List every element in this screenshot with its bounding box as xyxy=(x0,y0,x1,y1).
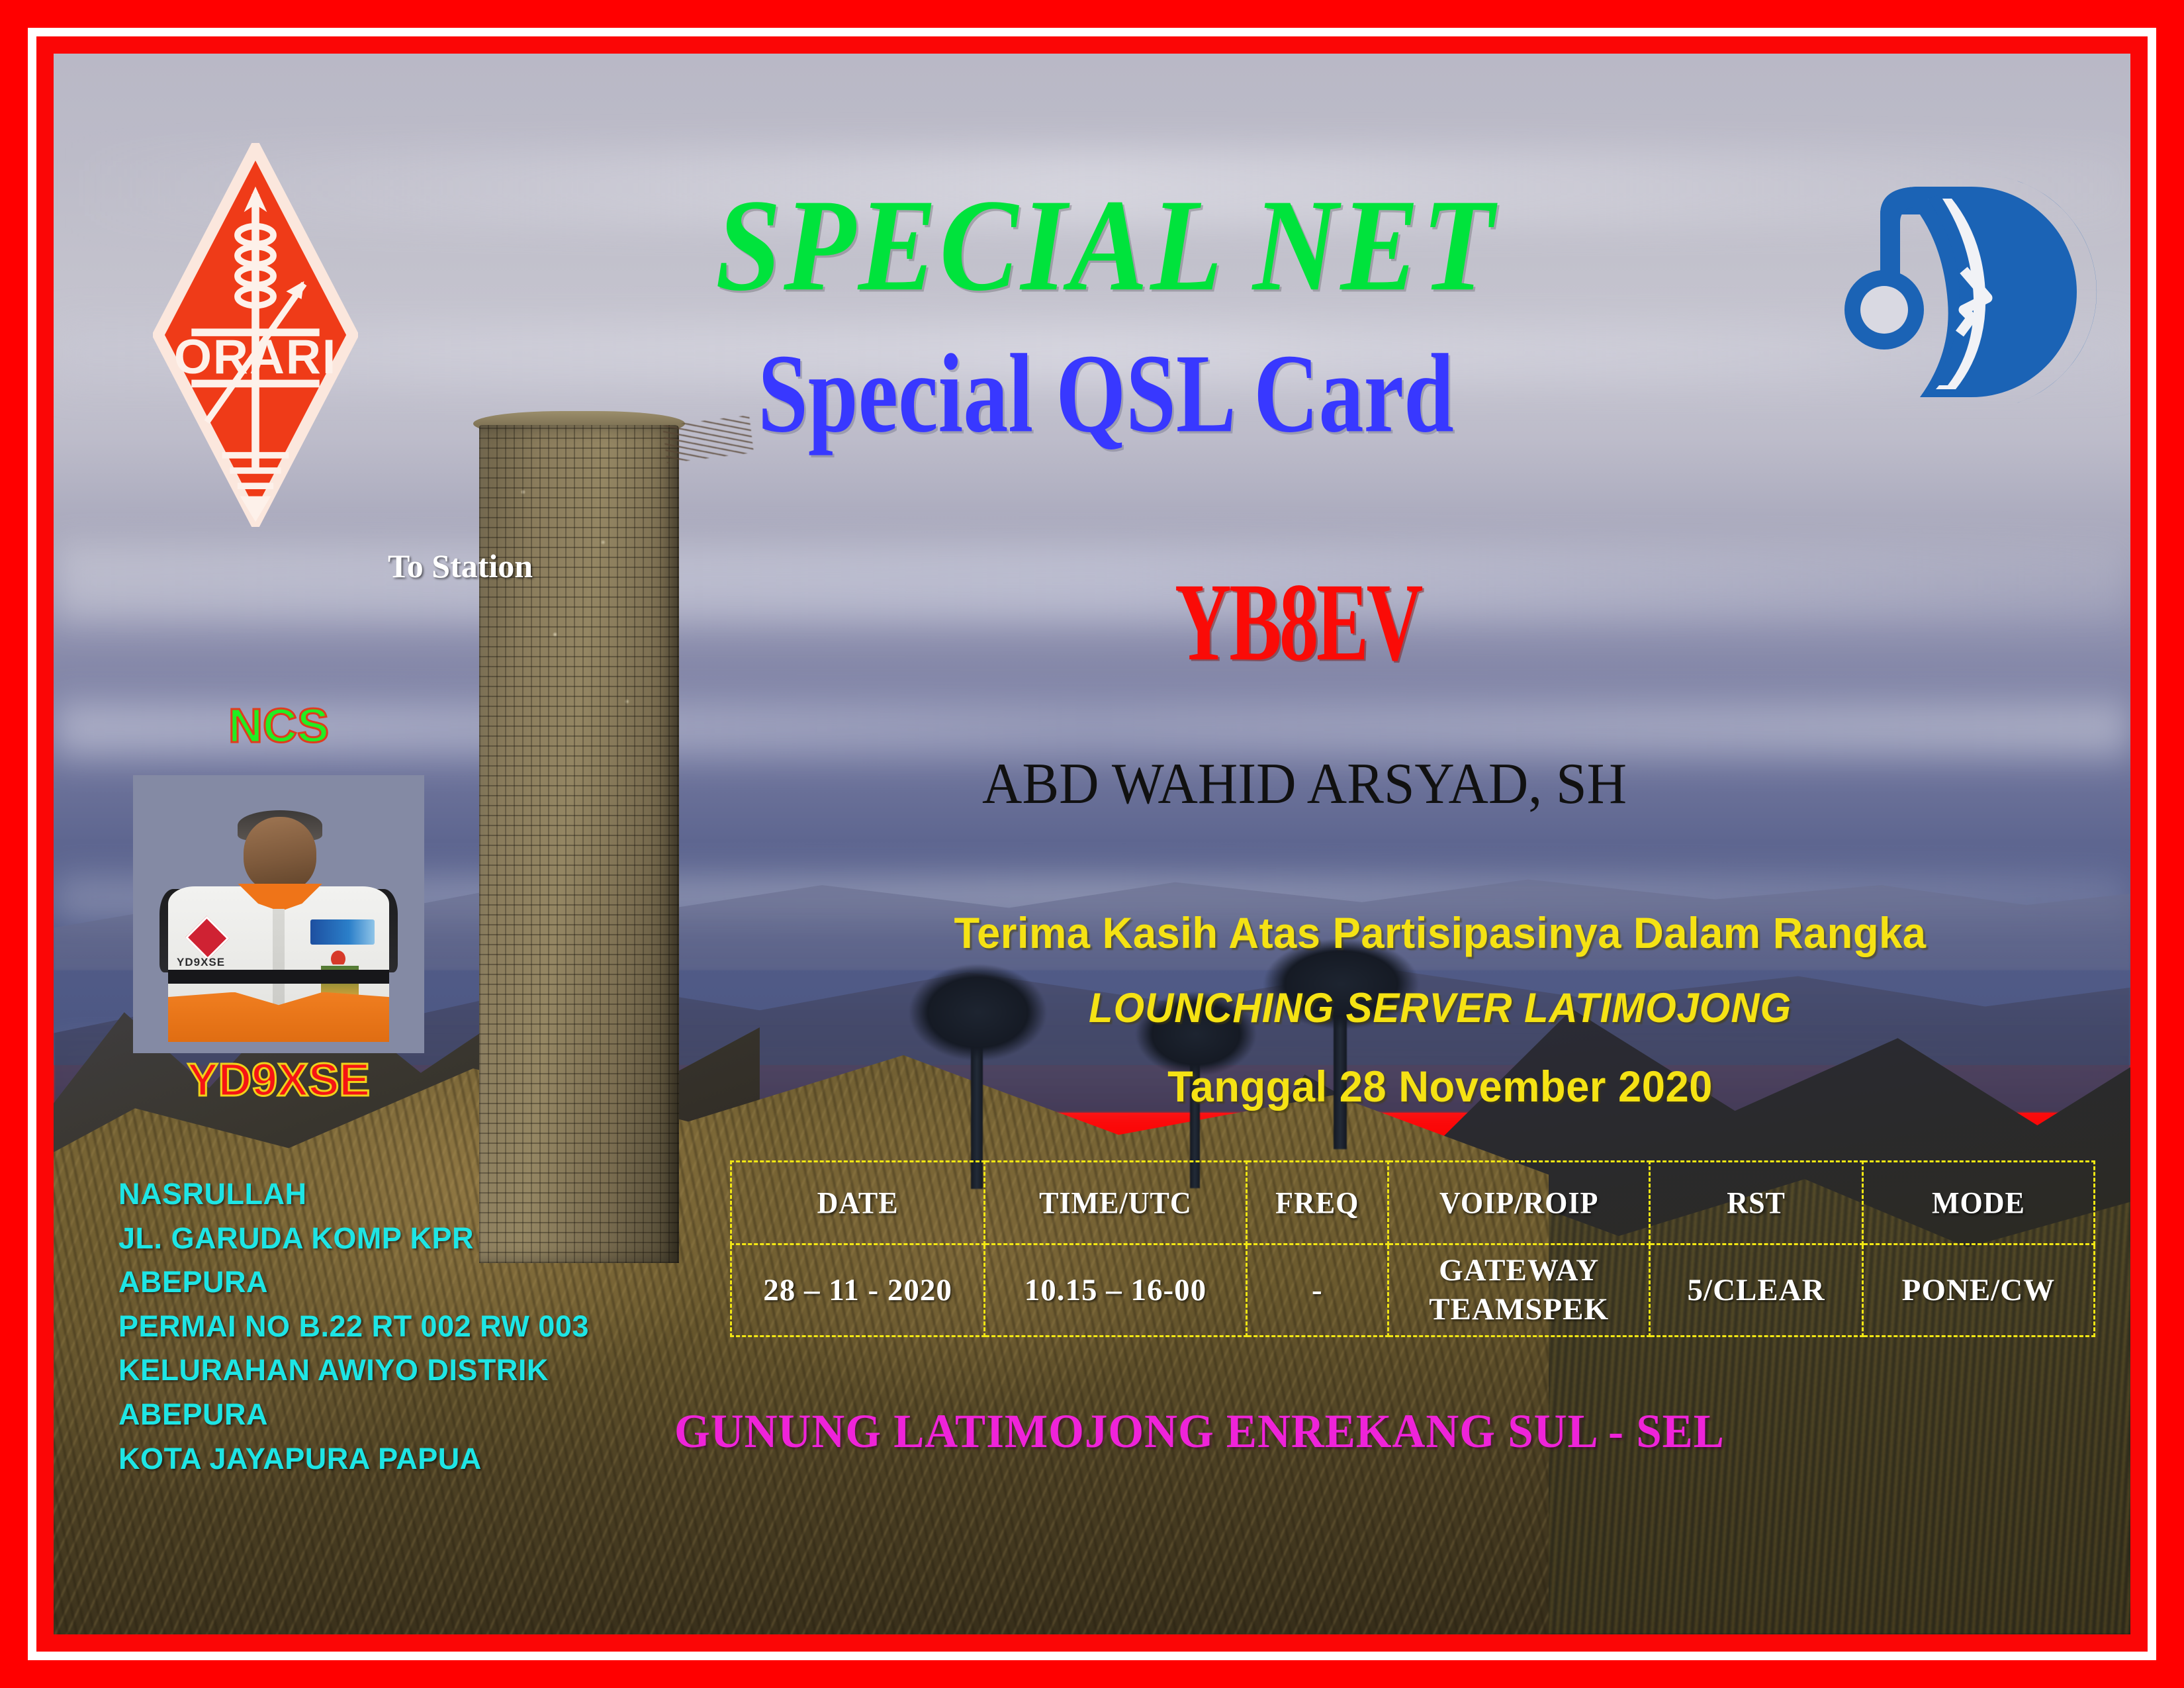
cell-voip: GATEWAY TEAMSPEK xyxy=(1388,1244,1650,1336)
ncs-operator-photo: YD9XSE xyxy=(133,775,424,1053)
qsl-card: ORARI SPECIAL NET Special QSL Card To St… xyxy=(0,0,2184,1688)
cell-voip-line-1: GATEWAY xyxy=(1389,1251,1649,1290)
cell-mode: PONE/CW xyxy=(1862,1244,2094,1336)
shirt-callsign-text: YD9XSE xyxy=(177,956,264,969)
shirt-stripe xyxy=(168,970,389,984)
message-line-1: Terima Kasih Atas Partisipasinya Dalam R… xyxy=(808,908,2072,958)
face xyxy=(244,817,316,892)
table-header-row: DATE TIME/UTC FREQ VOIP/ROIP RST MODE xyxy=(731,1162,2095,1244)
footer-web-address: Address : amatir.latimojong.com xyxy=(1357,1628,1971,1634)
card-white-gap: ORARI SPECIAL NET Special QSL Card To St… xyxy=(28,28,2156,1660)
message-line-2: LOUNCHING SERVER LATIMOJONG xyxy=(815,984,2066,1032)
station-callsign: YB8EV xyxy=(854,567,1742,678)
operator-name: ABD WAHID ARSYAD, SH xyxy=(796,755,1814,814)
address-line: JL. GARUDA KOMP KPR xyxy=(118,1217,701,1261)
location-label: GUNUNG LATIMOJONG ENREKANG SUL - SEL xyxy=(674,1404,1882,1459)
thank-you-message: Terima Kasih Atas Partisipasinya Dalam R… xyxy=(782,908,2099,1111)
card-inner-border: ORARI SPECIAL NET Special QSL Card To St… xyxy=(36,36,2148,1652)
footer-motto: "AMATIR RADIO ADALAH PROGRESIVE" xyxy=(171,1628,1036,1634)
ncs-callsign: YD9XSE xyxy=(123,1053,434,1106)
table-row: 28 – 11 - 2020 10.15 – 16-00 - GATEWAY T… xyxy=(731,1244,2095,1336)
club-shirt-badge xyxy=(310,919,375,945)
qso-log-table: DATE TIME/UTC FREQ VOIP/ROIP RST MODE 28… xyxy=(730,1160,2095,1337)
cell-date: 28 – 11 - 2020 xyxy=(731,1244,985,1336)
column-header-freq: FREQ xyxy=(1246,1159,1388,1246)
to-station-label: To Station xyxy=(388,547,533,585)
card-photo-area: ORARI SPECIAL NET Special QSL Card To St… xyxy=(54,54,2130,1634)
column-header-time: TIME/UTC xyxy=(985,1159,1247,1246)
column-header-rst: RST xyxy=(1650,1159,1862,1246)
ncs-label: NCS xyxy=(169,699,388,753)
address-line: ABEPURA xyxy=(118,1393,701,1437)
address-line: KOTA JAYAPURA PAPUA xyxy=(118,1437,701,1481)
address-line: KELURAHAN AWIYO DISTRIK xyxy=(118,1348,701,1393)
orari-logo: ORARI xyxy=(153,143,358,527)
column-header-voip: VOIP/ROIP xyxy=(1388,1159,1650,1246)
column-header-date: DATE xyxy=(731,1159,985,1246)
message-line-3: Tanggal 28 November 2020 xyxy=(808,1061,2072,1111)
address-line: NASRULLAH xyxy=(118,1172,701,1217)
cell-rst: 5/CLEAR xyxy=(1650,1244,1862,1336)
address-line: ABEPURA xyxy=(118,1260,701,1305)
page-title: SPECIAL NET xyxy=(477,179,1735,310)
rapi-headphone-head-logo xyxy=(1841,160,2099,424)
cell-time: 10.15 – 16-00 xyxy=(985,1244,1247,1336)
address-line: PERMAI NO B.22 RT 002 RW 003 xyxy=(118,1305,701,1349)
cell-freq: - xyxy=(1246,1244,1388,1336)
orari-logo-text: ORARI xyxy=(174,329,337,384)
page-subtitle: Special QSL Card xyxy=(527,338,1684,450)
column-header-mode: MODE xyxy=(1862,1159,2094,1246)
mailing-address: NASRULLAH JL. GARUDA KOMP KPR ABEPURA PE… xyxy=(118,1172,701,1481)
cell-voip-line-2: TEAMSPEK xyxy=(1389,1290,1649,1329)
